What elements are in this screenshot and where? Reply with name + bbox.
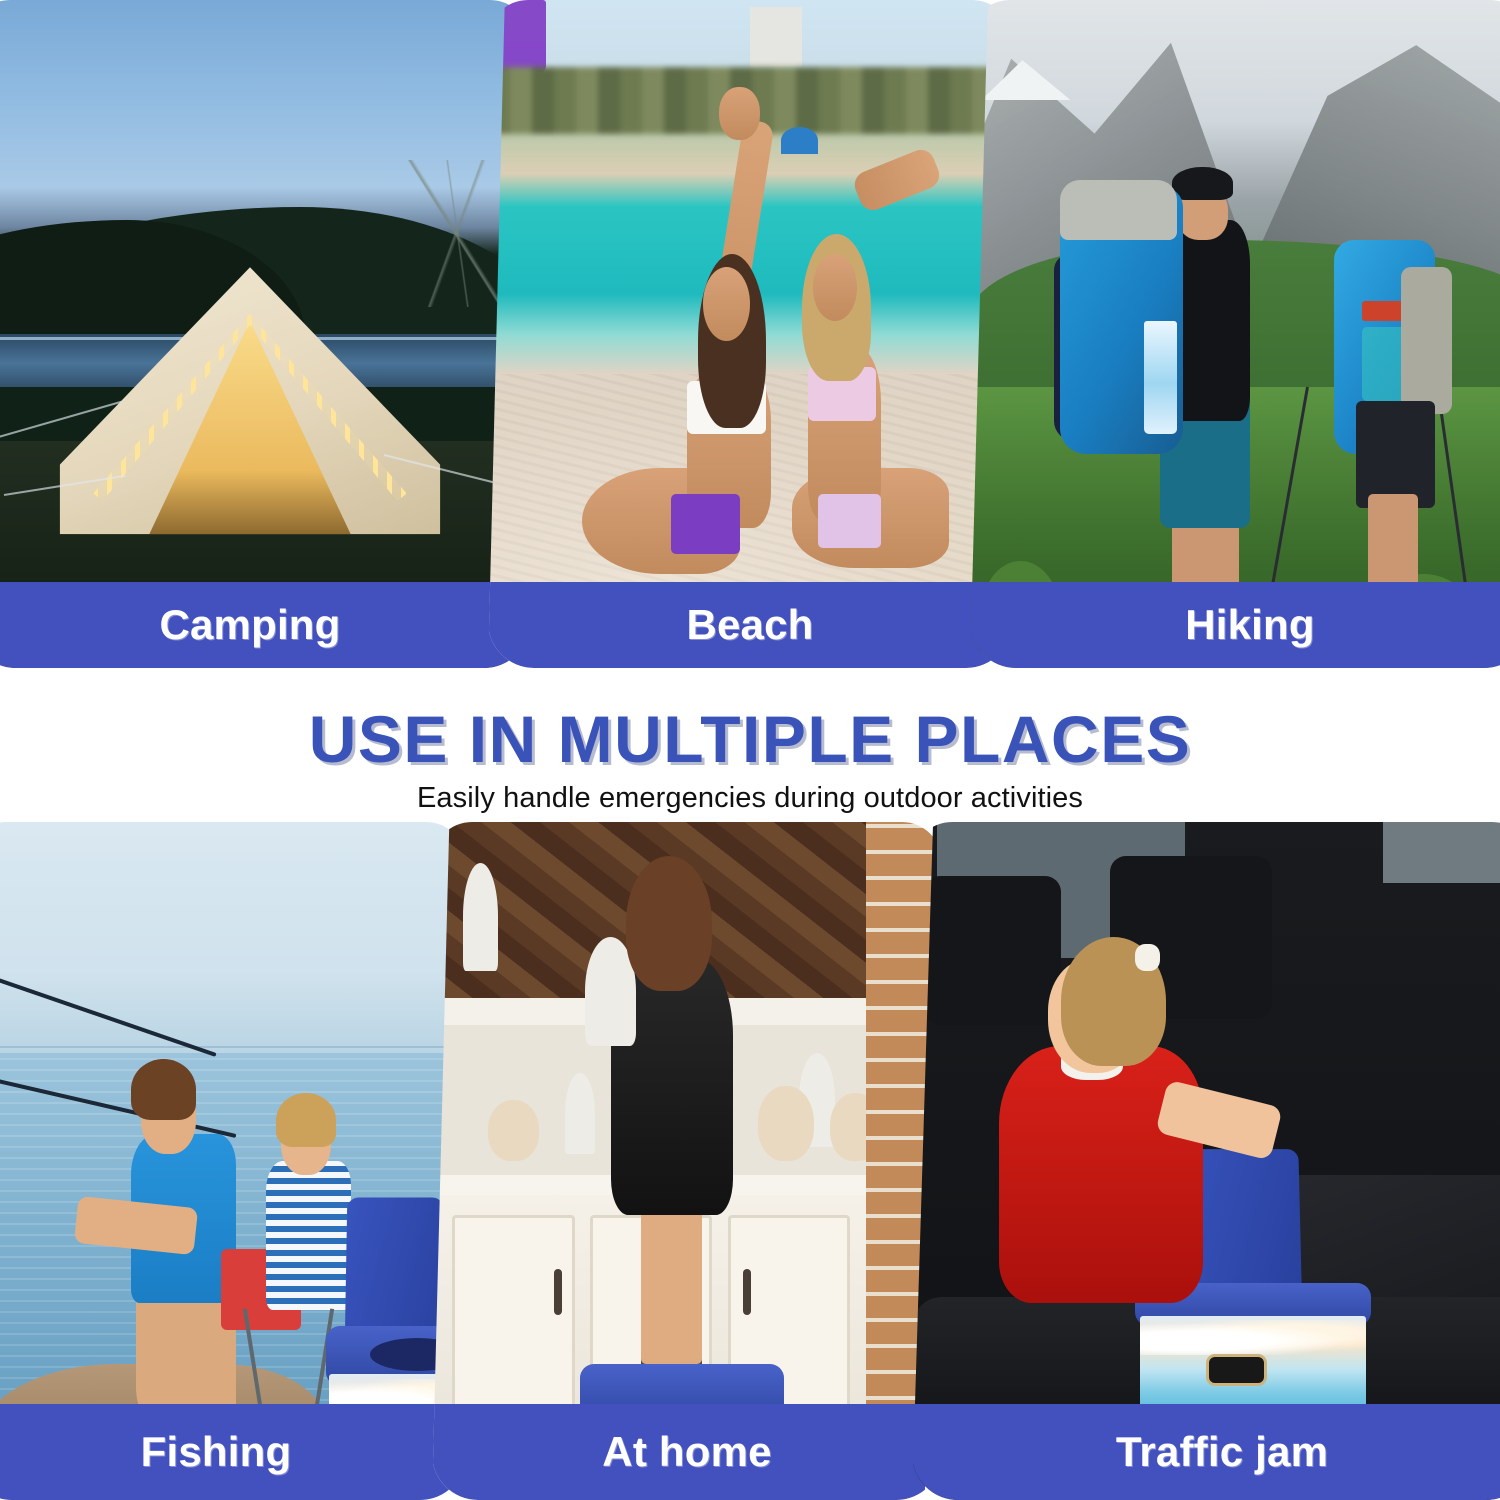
- panel-label-fishing: Fishing: [0, 1404, 466, 1500]
- panel-label-beach: Beach: [488, 582, 1012, 668]
- page-subtitle: Easily handle emergencies during outdoor…: [0, 772, 1500, 813]
- panel-traffic-jam[interactable]: Traffic jam: [912, 822, 1500, 1500]
- toilet-handle: [1206, 1354, 1267, 1387]
- panel-label-camping: Camping: [0, 582, 530, 668]
- headline-block: USE IN MULTIPLE PLACES Easily handle eme…: [0, 676, 1500, 822]
- panel-fishing[interactable]: Fishing: [0, 822, 466, 1500]
- panel-label-traffic-jam: Traffic jam: [912, 1404, 1500, 1500]
- panel-hiking[interactable]: Hiking: [970, 0, 1500, 668]
- panel-at-home[interactable]: At home: [432, 822, 942, 1500]
- at-home-photo: [432, 822, 942, 1500]
- water-bottle: [1144, 321, 1178, 435]
- panel-label-text: Fishing: [141, 1431, 292, 1473]
- traffic-jam-photo: [912, 822, 1500, 1500]
- page-title: USE IN MULTIPLE PLACES: [0, 676, 1500, 772]
- camping-photo: [0, 0, 530, 668]
- hair-clip: [1135, 944, 1160, 971]
- panel-beach[interactable]: Beach: [488, 0, 1012, 668]
- hiking-photo: [970, 0, 1500, 668]
- girl-head: [813, 254, 858, 321]
- woman-head: [703, 267, 750, 340]
- infographic-page: Camping: [0, 0, 1500, 1500]
- ghost-decoration: [565, 1073, 596, 1154]
- panel-camping[interactable]: Camping: [0, 0, 530, 668]
- ghost-decoration: [463, 863, 499, 971]
- panel-label-text: Traffic jam: [1116, 1431, 1328, 1473]
- baseball-cap: [1172, 167, 1234, 200]
- fishing-photo: [0, 822, 466, 1500]
- panel-label-text: Beach: [686, 604, 813, 646]
- bottom-panel-row: Fishing: [0, 822, 1500, 1500]
- panel-label-text: Hiking: [1185, 604, 1315, 646]
- pumpkin-decoration: [488, 1100, 539, 1161]
- sand-bucket: [488, 0, 546, 73]
- panel-label-at-home: At home: [432, 1404, 942, 1500]
- panel-label-hiking: Hiking: [970, 582, 1500, 668]
- beach-photo: [488, 0, 1012, 668]
- pumpkin-decoration: [758, 1086, 814, 1161]
- panel-label-text: At home: [602, 1431, 771, 1473]
- headrest: [924, 876, 1060, 1025]
- panel-label-text: Camping: [159, 604, 340, 646]
- top-panel-row: Camping: [0, 0, 1500, 668]
- sand-shovel: [488, 73, 504, 133]
- fishing-rod: [0, 961, 217, 1056]
